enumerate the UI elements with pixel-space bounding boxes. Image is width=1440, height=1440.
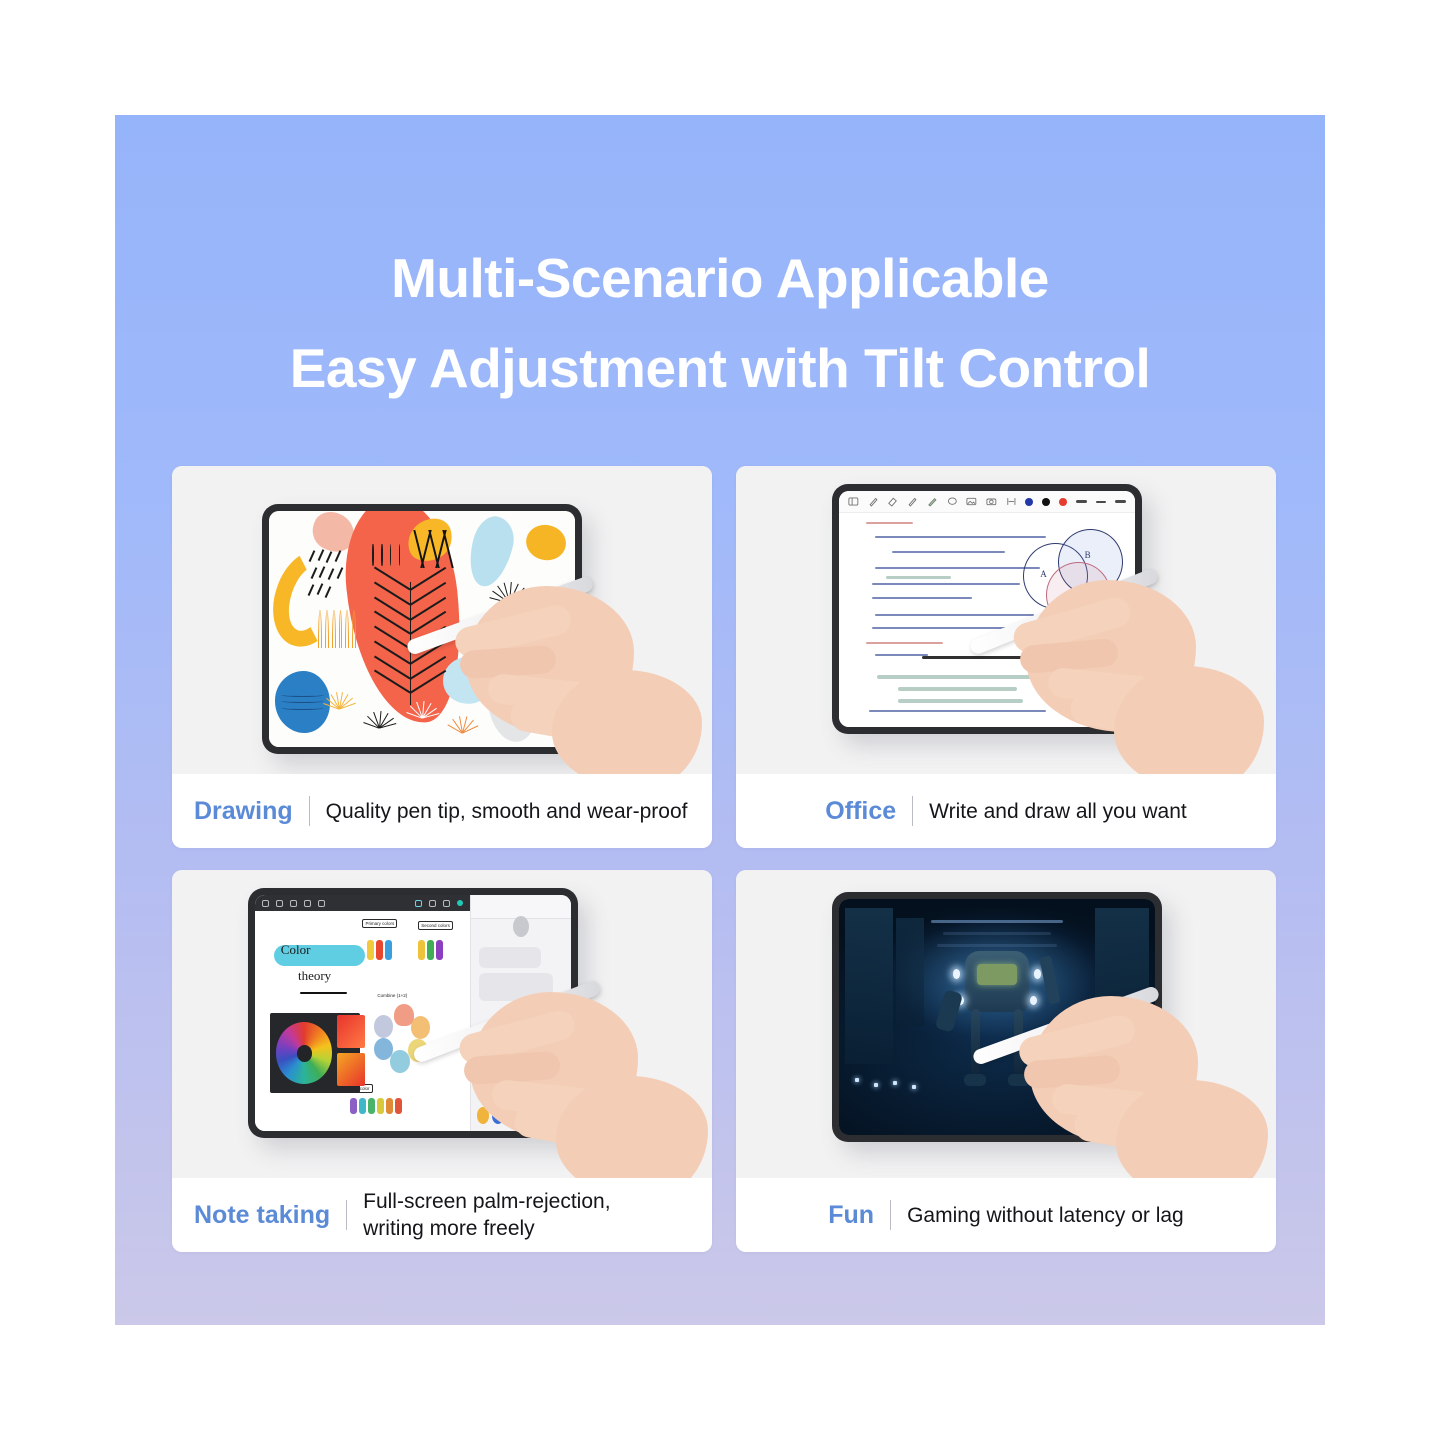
tablet-screen-note-taking: Color theory Primary colors Second color…: [255, 895, 571, 1131]
headline-line-2: Easy Adjustment with Tilt Control: [115, 323, 1325, 413]
stroke-width-medium[interactable]: [1096, 501, 1107, 503]
card-label-drawing: Drawing: [194, 796, 293, 826]
brush-icon[interactable]: [290, 900, 297, 907]
card-label-fun: Fun: [828, 1200, 874, 1230]
image-icon[interactable]: [966, 496, 977, 507]
caption-divider: [912, 796, 913, 826]
chat-bubble-out: [501, 1008, 563, 1029]
notes-title-line2: theory: [298, 968, 331, 984]
messaging-header: [471, 895, 571, 919]
feature-card-note-taking[interactable]: Color theory Primary colors Second color…: [172, 870, 712, 1252]
tag-combine: Combine (1+2): [375, 992, 409, 999]
desc-line-2: writing more freely: [363, 1215, 610, 1242]
mech-lamp-left: [953, 969, 960, 978]
feature-card-drawing[interactable]: Drawing Quality pen tip, smooth and wear…: [172, 466, 712, 848]
product-feature-image: Multi-Scenario Applicable Easy Adjustmen…: [0, 0, 1440, 1440]
art-blob-yellow-right: [523, 521, 569, 564]
pen-icon[interactable]: [868, 496, 879, 507]
mech-cannon: [1039, 955, 1061, 1004]
tablet-device-drawing: [262, 504, 582, 754]
tag-primary-colors: Primary colors: [362, 919, 397, 928]
mech-foot-left: [964, 1074, 986, 1086]
card-media-office: A B C: [736, 466, 1276, 774]
card-media-drawing: [172, 466, 712, 774]
color-picker-icon[interactable]: [415, 900, 422, 907]
reference-thumb-1: [337, 1015, 365, 1048]
art-scallops-yellow: [318, 610, 367, 648]
camera-icon[interactable]: [986, 496, 997, 507]
pen-icon[interactable]: [276, 900, 283, 907]
chat-bubble-in: [479, 947, 541, 968]
card-desc-office: Write and draw all you want: [929, 798, 1187, 825]
card-desc-fun: Gaming without latency or lag: [907, 1202, 1184, 1229]
wrist: [556, 1076, 708, 1178]
hud-bar-3: [937, 944, 1057, 947]
tablet-screen-office: A B C: [839, 491, 1135, 727]
notes-toolbar[interactable]: [839, 491, 1135, 513]
venn-label-c: C: [1073, 595, 1079, 605]
caption-divider: [309, 796, 310, 826]
caption-inner: Note taking Full-screen palm-rejection, …: [194, 1188, 611, 1242]
art-dandelion-orange: [440, 700, 483, 733]
layers-icon[interactable]: [443, 900, 450, 907]
desc-line-1: Full-screen palm-rejection,: [363, 1188, 610, 1215]
message-input[interactable]: [477, 1086, 565, 1103]
abstract-artwork: [269, 511, 575, 747]
stroke-width-large[interactable]: [1076, 500, 1087, 503]
stroke-width-small[interactable]: [1115, 500, 1126, 504]
tablet-device-note-taking: Color theory Primary colors Second color…: [248, 888, 578, 1138]
color-swatch-blue[interactable]: [1025, 498, 1033, 506]
mech-visor: [977, 964, 1017, 985]
mech-lamp-lower-right: [1030, 996, 1037, 1005]
card-caption-drawing: Drawing Quality pen tip, smooth and wear…: [172, 774, 712, 848]
hud-bar-2: [943, 932, 1050, 935]
card-media-note-taking: Color theory Primary colors Second color…: [172, 870, 712, 1178]
feature-card-grid: Drawing Quality pen tip, smooth and wear…: [172, 466, 1270, 1252]
tablet-screen-fun: [839, 899, 1155, 1135]
feature-card-fun[interactable]: Fun Gaming without latency or lag: [736, 870, 1276, 1252]
lasso-icon[interactable]: [947, 496, 958, 507]
reference-thumb-2: [337, 1053, 365, 1086]
art-dandelion-sprout: [483, 563, 535, 603]
swatch-group-primary: [367, 940, 392, 960]
swatch-group-third: [350, 1098, 402, 1114]
shape-icon[interactable]: [429, 900, 436, 907]
card-desc-drawing: Quality pen tip, smooth and wear-proof: [326, 798, 688, 825]
hud-bar-1: [931, 920, 1064, 923]
grid-icon[interactable]: [262, 900, 269, 907]
contact-avatar: [513, 916, 529, 937]
art-blob-gray: [485, 673, 543, 745]
art-dandelion-white: [401, 686, 444, 719]
chat-bubble-in: [479, 973, 553, 1001]
background-pillar-left: [845, 908, 892, 1064]
pencil-color-icon[interactable]: [927, 496, 938, 507]
game-scene: [839, 899, 1155, 1135]
mech-robot: [946, 951, 1047, 1083]
venn-label-a: A: [1040, 569, 1047, 579]
gradient-panel: Multi-Scenario Applicable Easy Adjustmen…: [115, 115, 1325, 1325]
notes-app-toolbar[interactable]: [255, 895, 470, 911]
art-hatch-marks: [309, 549, 358, 610]
tablet-device-fun: [832, 892, 1162, 1142]
caption-inner: Drawing Quality pen tip, smooth and wear…: [194, 796, 688, 826]
mech-leg-right: [1014, 1009, 1023, 1083]
background-pillar-right: [1095, 908, 1149, 1054]
card-caption-note-taking: Note taking Full-screen palm-rejection, …: [172, 1178, 712, 1252]
venn-label-b: B: [1085, 550, 1091, 560]
active-color-dot[interactable]: [457, 900, 463, 906]
card-label-note-taking: Note taking: [194, 1200, 330, 1230]
card-caption-fun: Fun Gaming without latency or lag: [736, 1178, 1276, 1252]
tablet-screen-drawing: [269, 511, 575, 747]
messaging-pane: [470, 895, 571, 1131]
app-drawer[interactable]: [477, 1107, 565, 1124]
headline-line-1: Multi-Scenario Applicable: [115, 233, 1325, 323]
caption-divider: [346, 1200, 347, 1230]
color-swatch-black[interactable]: [1042, 498, 1050, 506]
mech-lamp-right: [1034, 969, 1041, 978]
card-caption-office: Office Write and draw all you want: [736, 774, 1276, 848]
swatch-group-second: [418, 940, 443, 960]
chat-bubble-in: [479, 1037, 535, 1054]
eraser-icon[interactable]: [318, 900, 325, 907]
art-dandelion-black: [358, 695, 401, 728]
mech-arm-left: [935, 989, 963, 1032]
mech-foot-right: [1008, 1074, 1030, 1086]
marker-icon[interactable]: [304, 900, 311, 907]
tablet-device-office: A B C: [832, 484, 1142, 734]
art-zigzag: [416, 530, 453, 568]
caption-divider: [890, 1200, 891, 1230]
color-wheel: [276, 1022, 332, 1083]
art-dandelion-yellow: [318, 676, 361, 709]
color-swatch-red[interactable]: [1059, 498, 1067, 506]
title-underline: [300, 992, 347, 994]
notes-title-line1: Color: [281, 942, 311, 958]
caption-inner: Office Write and draw all you want: [758, 796, 1254, 826]
caption-inner: Fun Gaming without latency or lag: [758, 1200, 1254, 1230]
notes-app: A B C: [839, 491, 1135, 727]
watercolor-wheel: [371, 1004, 435, 1075]
eraser-icon[interactable]: [887, 496, 898, 507]
card-desc-note-taking: Full-screen palm-rejection, writing more…: [363, 1188, 610, 1242]
text-box-icon[interactable]: [1006, 496, 1017, 507]
notes-pane: Color theory Primary colors Second color…: [255, 895, 470, 1131]
feature-card-office[interactable]: A B C: [736, 466, 1276, 848]
chat-bubble-out: [495, 1060, 563, 1088]
mech-leg-left: [971, 1009, 980, 1083]
sidebar-icon[interactable]: [848, 496, 859, 507]
card-label-office: Office: [825, 796, 896, 826]
highlighter-icon[interactable]: [907, 496, 918, 507]
card-media-fun: [736, 870, 1276, 1178]
tag-second-colors: Second colors: [418, 921, 453, 930]
background-pillar-mid: [896, 918, 924, 1027]
page-title: Multi-Scenario Applicable Easy Adjustmen…: [115, 233, 1325, 413]
